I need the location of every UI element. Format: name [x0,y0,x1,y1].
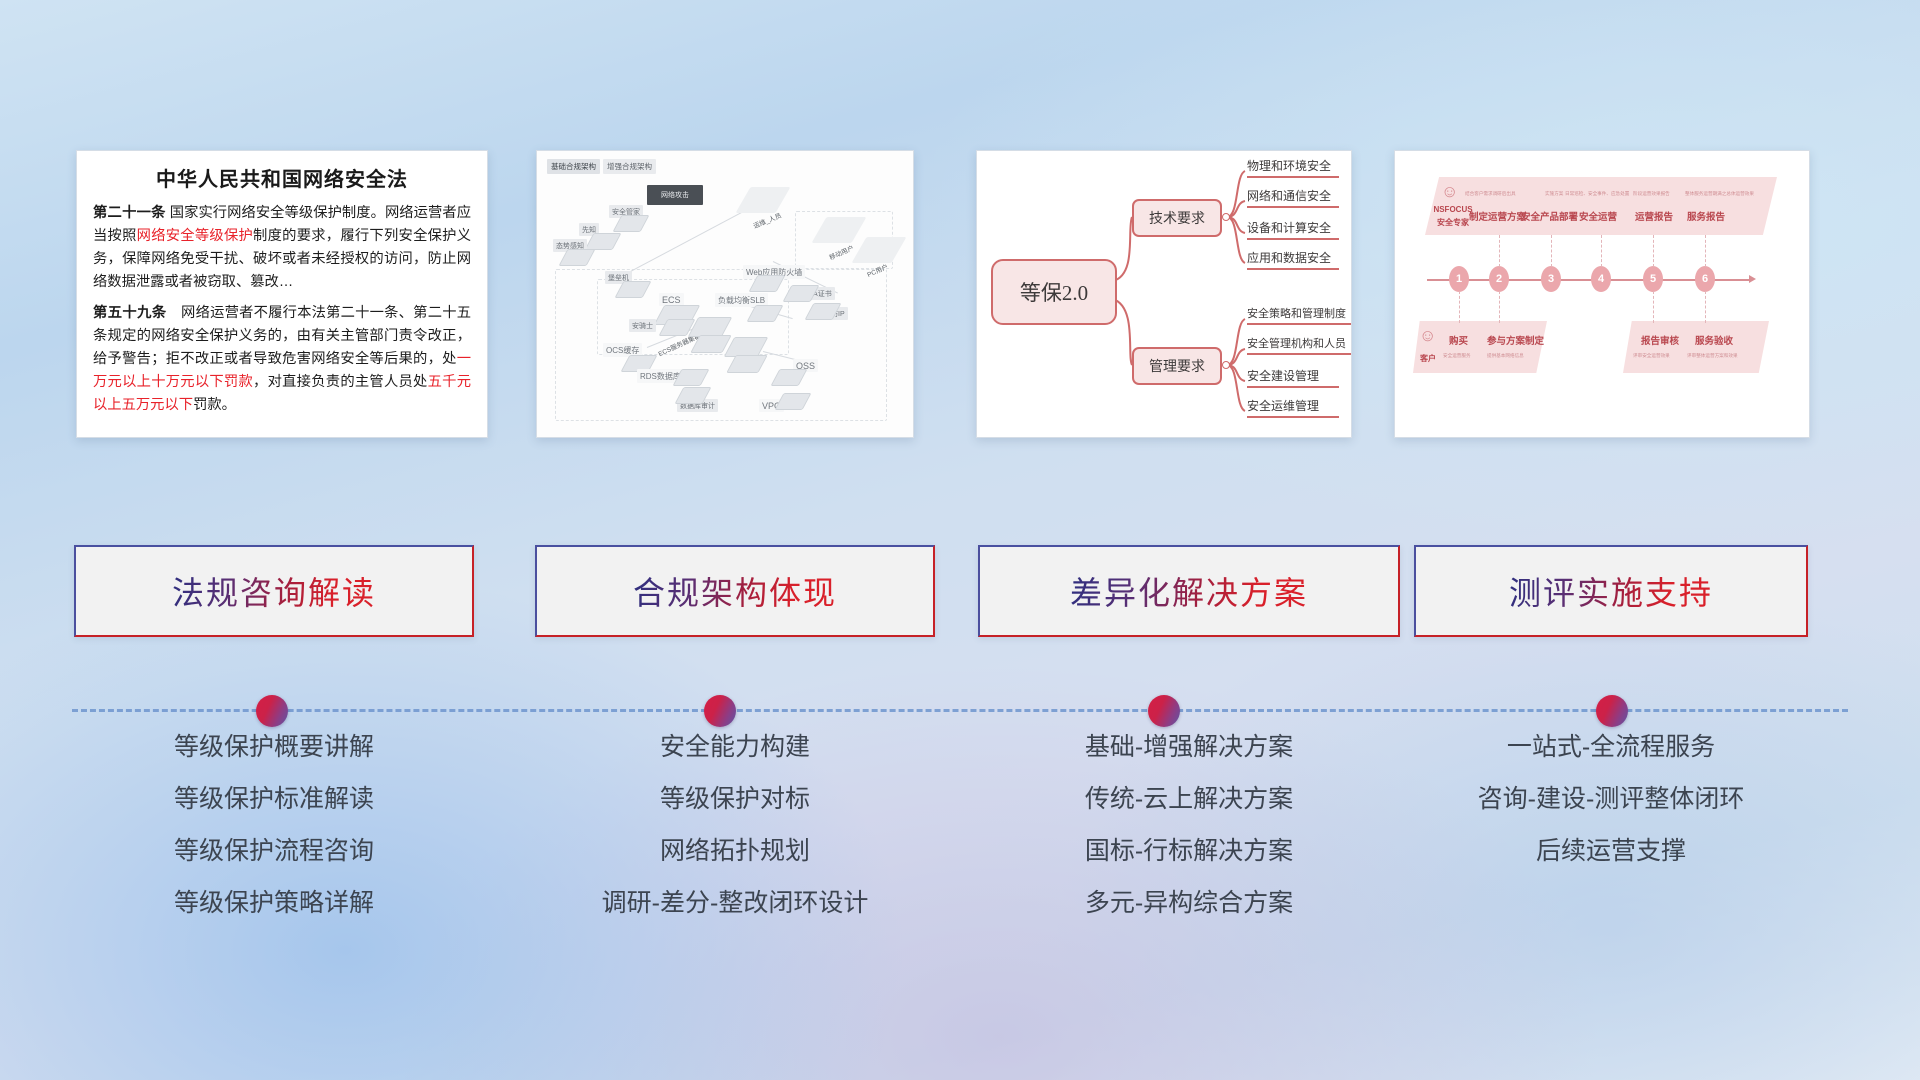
timeline-dot-1[interactable] [256,695,288,727]
law-card-title: 中华人民共和国网络安全法 [93,163,471,192]
list-item: 等级保护标准解读 [74,787,474,812]
preview-cards-row: 中华人民共和国网络安全法 第二十一条 国家实行网络安全等级保护制度。网络运营者应… [0,150,1920,440]
mindmap-leaf-network: 网络和通信安全 [1247,187,1339,208]
process-step-node-2[interactable]: 2 [1489,266,1509,292]
list-item: 基础-增强解决方案 [978,735,1400,760]
arch-node-attack: 网络攻击 [647,185,703,205]
mindmap-leaf-policy: 安全策略和管理制度 [1247,305,1351,325]
section-list-3: 基础-增强解决方案 传统-云上解决方案 国标-行标解决方案 多元-异构综合方案 [978,735,1400,943]
list-item: 国标-行标解决方案 [978,839,1400,864]
list-item: 传统-云上解决方案 [978,787,1400,812]
process-connector-3-top [1551,235,1552,267]
list-item: 等级保护策略详解 [74,891,474,916]
mindmap-branch-technical: 技术要求 [1132,199,1222,237]
timeline-dot-4[interactable] [1596,695,1628,727]
process-step-5-title: 运营报告 [1635,209,1673,223]
process-step-3-title: 安全产品部署 [1521,209,1578,223]
list-item: 安全能力构建 [535,735,935,760]
list-item: 多元-异构综合方案 [978,891,1400,916]
arch-tab-enhanced[interactable]: 增强合规架构 [603,159,656,174]
process-step-2-sub: 结合客户需求调研后出具 [1465,191,1516,197]
list-item: 等级保护流程咨询 [74,839,474,864]
law-article-59-seg2: ，对直接负责的主管人员处 [253,374,428,390]
law-preview-card[interactable]: 中华人民共和国网络安全法 第二十一条 国家实行网络安全等级保护制度。网络运营者应… [76,150,488,438]
process-step-node-3[interactable]: 3 [1541,266,1561,292]
section-list-1: 等级保护概要讲解 等级保护标准解读 等级保护流程咨询 等级保护策略详解 [74,735,474,943]
process-preview-card[interactable]: ☺ NSFOCUS 安全专家 ☺ 客户 1 2 3 4 5 6 [1394,150,1810,438]
law-article-59: 第五十九条 网络运营者不履行本法第二十一条、第二十五条规定的网络安全保护义务的，… [93,302,471,418]
slide-canvas: 中华人民共和国网络安全法 第二十一条 国家实行网络安全等级保护制度。网络运营者应… [0,0,1920,1080]
list-item: 等级保护概要讲解 [74,735,474,760]
process-band-bottom-right [1623,321,1769,373]
process-step-node-5[interactable]: 5 [1643,266,1663,292]
law-article-59-seg3: 罚款。 [193,397,236,413]
process-step-2-title: 制定运营方案 [1469,209,1526,223]
process-axis-arrow-icon [1749,275,1756,283]
mindmap-diagram: 等保2.0 技术要求 物理和环境安全 网络和通信安全 设备和计算安全 应用和数据… [977,151,1351,437]
law-article-21-label: 第二十一条 [93,205,166,221]
list-item: 网络拓扑规划 [535,839,935,864]
process-step-5b-sub: 评审安全运营效果 [1633,353,1670,359]
process-step-2b-title: 参与方案制定 [1487,333,1544,347]
process-step-1-title: 购买 [1449,333,1468,347]
list-item: 调研-差分-整改闭环设计 [535,891,935,916]
timeline-dot-3[interactable] [1148,695,1180,727]
law-article-21-highlight: 网络安全等级保护 [137,228,253,244]
section-title-box-1[interactable]: 法规咨询解读 [74,545,474,637]
mindmap-root-node: 等保2.0 [991,259,1117,325]
section-title-box-4[interactable]: 测评实施支持 [1414,545,1808,637]
mindmap-preview-card[interactable]: 等保2.0 技术要求 物理和环境安全 网络和通信安全 设备和计算安全 应用和数据… [976,150,1352,438]
arch-plate-ops [735,187,790,213]
process-step-3-sub: 实施方案 [1545,191,1563,197]
section-title-label-1: 法规咨询解读 [172,568,376,614]
list-item: 等级保护对标 [535,787,935,812]
mindmap-leaf-physical: 物理和环境安全 [1247,157,1339,178]
section-title-label-3: 差异化解决方案 [1070,568,1308,614]
section-title-box-2[interactable]: 合规架构体现 [535,545,935,637]
timeline-dashed-line [72,709,1848,712]
section-title-box-3[interactable]: 差异化解决方案 [978,545,1400,637]
section-title-label-4: 测评实施支持 [1509,568,1713,614]
mindmap-leaf-application: 应用和数据安全 [1247,249,1339,270]
mindmap-leaf-org: 安全管理机构和人员 [1247,335,1351,355]
process-step-5b-title: 报告审核 [1641,333,1679,347]
architecture-preview-card[interactable]: 基础合规架构 增强合规架构 网络攻击 安全管家 先知 态 [536,150,914,438]
process-step-6b-title: 服务验收 [1695,333,1733,347]
section-title-label-2: 合规架构体现 [633,568,837,614]
law-article-59-label: 第五十九条 [93,305,167,321]
process-actor-client-role: 客户 [1409,353,1447,364]
process-step-4-sub: 日常巡检、安全事件、应急处置 [1565,191,1629,197]
list-item: 后续运营支撑 [1414,839,1808,864]
section-lists-row: 等级保护概要讲解 等级保护标准解读 等级保护流程咨询 等级保护策略详解 安全能力… [0,735,1920,995]
section-list-4: 一站式-全流程服务 咨询-建设-测评整体闭环 后续运营支撑 [1414,735,1808,891]
process-connector-1-bottom [1459,291,1460,323]
architecture-diagram: 基础合规架构 增强合规架构 网络攻击 安全管家 先知 态 [537,151,913,437]
list-item: 一站式-全流程服务 [1414,735,1808,760]
process-step-6-sub: 整体服务运营期满之总体运营效果 [1685,191,1754,197]
mindmap-branch-management: 管理要求 [1132,347,1222,385]
timeline [0,690,1920,730]
process-step-6-title: 服务报告 [1687,209,1725,223]
arch-node-anqishi: 安骑士 [629,319,656,332]
expert-person-icon: ☺ [1441,183,1458,200]
mindmap-collapse-dot-management[interactable] [1222,361,1230,369]
process-connector-6-top [1705,235,1706,267]
process-connector-5-bottom [1653,291,1654,323]
process-connector-2-top [1499,235,1500,267]
mindmap-leaf-device: 设备和计算安全 [1247,219,1339,240]
process-step-node-6[interactable]: 6 [1695,266,1715,292]
process-step-node-1[interactable]: 1 [1449,266,1469,292]
process-step-1-sub: 安全运营服务 [1443,353,1471,359]
timeline-dot-2[interactable] [704,695,736,727]
mindmap-collapse-dot-technical[interactable] [1222,213,1230,221]
process-diagram: ☺ NSFOCUS 安全专家 ☺ 客户 1 2 3 4 5 6 [1395,151,1809,437]
process-connector-5-top [1653,235,1654,267]
process-step-node-4[interactable]: 4 [1591,266,1611,292]
process-step-2b-sub: 提供基本网络信息 [1487,353,1524,359]
architecture-tabs: 基础合规架构 增强合规架构 [547,159,656,174]
mindmap-leaf-construction: 安全建设管理 [1247,367,1339,388]
mindmap-leaf-operations: 安全运维管理 [1247,397,1339,418]
process-step-4-title: 安全运营 [1579,209,1617,223]
process-step-6b-sub: 评审整体运营方案和效果 [1687,353,1738,359]
client-person-icon: ☺ [1419,327,1436,344]
process-connector-2-bottom [1499,291,1500,323]
process-step-5-sub: 阶段运营效果报告 [1633,191,1670,197]
process-connector-4-top [1601,235,1602,267]
section-list-2: 安全能力构建 等级保护对标 网络拓扑规划 调研-差分-整改闭环设计 [535,735,935,943]
list-item: 咨询-建设-测评整体闭环 [1414,787,1808,812]
law-article-21: 第二十一条 国家实行网络安全等级保护制度。网络运营者应当按照网络安全等级保护制度… [93,202,471,295]
process-connector-6-bottom [1705,291,1706,323]
section-titles-row: 法规咨询解读 合规架构体现 差异化解决方案 测评实施支持 [0,545,1920,637]
arch-tab-basic[interactable]: 基础合规架构 [547,159,600,174]
